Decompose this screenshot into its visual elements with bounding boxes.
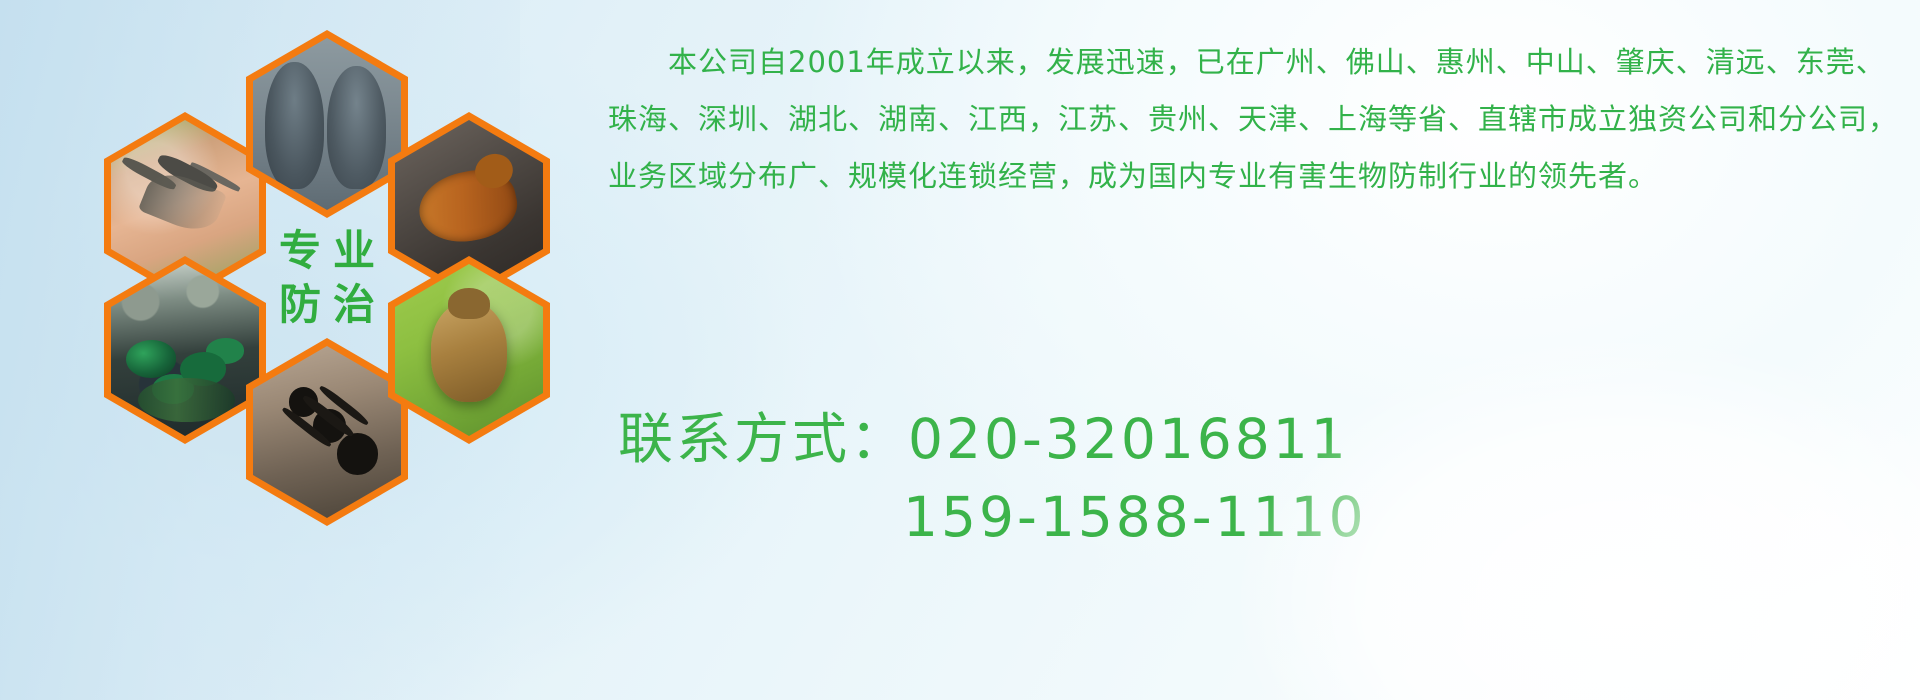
hex-cell-slogan: 专业 防治 bbox=[246, 184, 408, 372]
hex-cell-stink-bug[interactable] bbox=[388, 256, 550, 444]
slogan-line-1: 专业 bbox=[267, 229, 387, 273]
stink-bug-photo bbox=[395, 264, 543, 436]
hex-photo-flies bbox=[111, 264, 259, 436]
promo-banner: 专业 防治 本公司自2001年成立以来，发展迅速，已在广州、佛山、惠州、中山、肇… bbox=[0, 0, 1920, 700]
hex-cell-flies[interactable] bbox=[104, 256, 266, 444]
contact-label: 联系方式： bbox=[618, 407, 908, 471]
hex-photo-stink-bug bbox=[395, 264, 543, 436]
slogan-text: 专业 防治 bbox=[246, 184, 408, 372]
honeycomb-cluster: 专业 防治 bbox=[86, 8, 586, 568]
phone-primary[interactable]: 020-32016811 bbox=[908, 407, 1349, 471]
company-description: 本公司自2001年成立以来，发展迅速，已在广州、佛山、惠州、中山、肇庆、清远、东… bbox=[608, 34, 1908, 205]
flies-photo bbox=[111, 264, 259, 436]
company-description-block: 本公司自2001年成立以来，发展迅速，已在广州、佛山、惠州、中山、肇庆、清远、东… bbox=[608, 34, 1908, 205]
phone-secondary[interactable]: 159-1588-1110 bbox=[618, 478, 1918, 556]
contact-block: 联系方式：020-32016811 159-1588-1110 bbox=[618, 400, 1918, 556]
contact-primary-line[interactable]: 联系方式：020-32016811 bbox=[618, 400, 1918, 478]
slogan-line-2: 防治 bbox=[267, 283, 387, 327]
